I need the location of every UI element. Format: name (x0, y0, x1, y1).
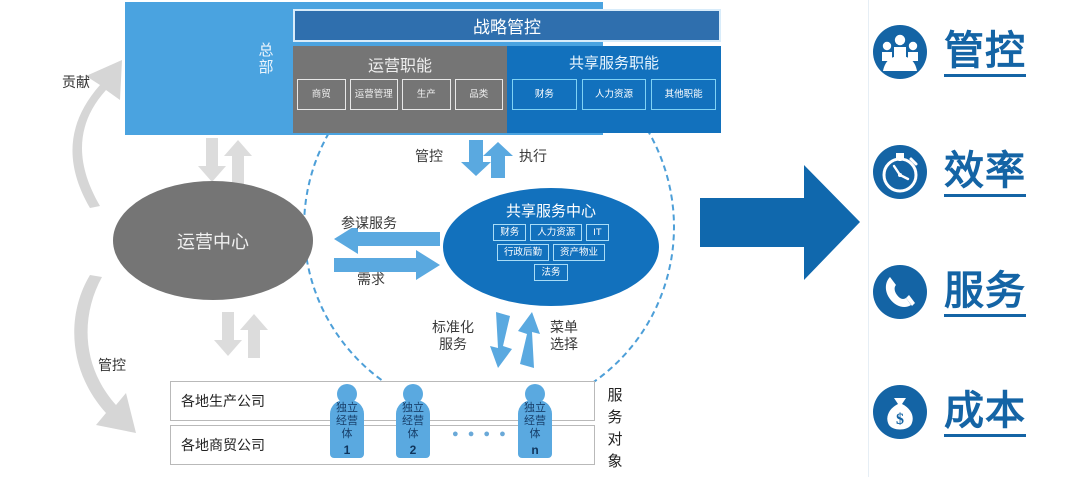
control-execute-double-arrow-icon (459, 140, 519, 178)
benefit-item-service[interactable]: 服务 (872, 256, 1080, 328)
service-object-label: 服 务 对 象 (604, 385, 626, 473)
headquarters-panel: 总部 战略管控 运营职能 商贸 运营管理 生产 品类 共享服务职能 财务 人力资… (125, 2, 603, 135)
menu-choice-line1: 菜单 (550, 319, 578, 335)
entity-label: 独立 经营 体 (330, 402, 364, 441)
contribution-curved-arrow-icon (60, 28, 180, 208)
standard-service-line2: 服务 (439, 336, 467, 352)
entity-line1: 独立 (524, 402, 546, 414)
ssc-chip: 财务 (493, 224, 526, 241)
ssc-chip: 法务 (534, 264, 567, 281)
company-label: 各地商贸公司 (171, 435, 265, 455)
benefit-label: 管控 (944, 28, 1026, 77)
ssc-chip: IT (586, 224, 608, 241)
entity-number: n (518, 443, 552, 457)
entity-line1: 独立 (402, 402, 424, 414)
ssc-row-2: 行政后勤 资产物业 (443, 244, 659, 261)
standard-menu-double-arrow-icon (482, 312, 544, 368)
company-label: 各地生产公司 (171, 391, 265, 411)
entity-line3: 体 (530, 428, 541, 440)
service-object-char: 服 (604, 385, 626, 407)
operation-functions-chips: 商贸 运营管理 生产 品类 (297, 79, 503, 110)
ops-chip: 品类 (455, 79, 504, 110)
headquarters-label-text: 总部 (253, 42, 279, 76)
benefit-item-control[interactable]: 管控 (872, 16, 1080, 88)
ops-chip: 运营管理 (350, 79, 399, 110)
entity-line2: 经营 (336, 415, 358, 427)
shared-chip: 人力资源 (582, 79, 647, 110)
execute-label: 执行 (519, 146, 547, 166)
menu-choice-label: 菜单 选择 (541, 319, 587, 353)
advisory-demand-double-arrow-icon (334, 228, 440, 280)
shared-service-center-ellipse: 共享服务中心 财务 人力资源 IT 行政后勤 资产物业 法务 (443, 188, 659, 306)
entity-line2: 经营 (402, 415, 424, 427)
entity-number: 1 (330, 443, 364, 457)
entity-body: 独立 经营 体 n (518, 400, 552, 458)
diagram-canvas: 总部 战略管控 运营职能 商贸 运营管理 生产 品类 共享服务职能 财务 人力资… (0, 0, 1080, 477)
operation-center-label: 运营中心 (177, 228, 249, 254)
ssc-chip: 人力资源 (530, 224, 582, 241)
benefit-item-efficiency[interactable]: 效率 (872, 136, 1080, 208)
ops-chip: 商贸 (297, 79, 346, 110)
entity-body: 独立 经营 体 1 (330, 400, 364, 458)
entity-line3: 体 (342, 428, 353, 440)
entity-line1: 独立 (336, 402, 358, 414)
benefit-label: 效率 (944, 148, 1026, 197)
money-bag-icon: $ (872, 384, 928, 440)
control-label: 管控 (415, 146, 443, 166)
operation-functions-block: 运营职能 商贸 运营管理 生产 品类 (293, 46, 507, 133)
shared-service-center-title: 共享服务中心 (443, 200, 659, 221)
ops-chip: 生产 (402, 79, 451, 110)
phone-icon (872, 264, 928, 320)
service-object-char: 务 (604, 407, 626, 429)
entities-ellipsis: ● ● ● ● (452, 428, 509, 440)
service-object-char: 象 (604, 451, 626, 473)
benefit-item-cost[interactable]: $ 成本 (872, 376, 1080, 448)
svg-text:$: $ (896, 411, 904, 428)
shared-service-functions-block: 共享服务职能 财务 人力资源 其他职能 (507, 46, 721, 133)
entity-figure: 独立 经营 体 n (518, 384, 552, 458)
people-group-icon (872, 24, 928, 80)
ops-entities-double-arrow-icon (214, 312, 274, 358)
entity-body: 独立 经营 体 2 (396, 400, 430, 458)
standard-service-line1: 标准化 (432, 319, 474, 335)
menu-choice-line2: 选择 (550, 336, 578, 352)
operation-functions-title: 运营职能 (293, 52, 507, 76)
shared-functions-title: 共享服务职能 (507, 52, 721, 73)
benefit-label: 服务 (944, 268, 1026, 317)
result-arrow-icon (700, 165, 860, 280)
standard-service-label: 标准化 服务 (430, 319, 476, 353)
shared-chip: 其他职能 (651, 79, 716, 110)
stopwatch-icon (872, 144, 928, 200)
ssc-chip: 资产物业 (553, 244, 605, 261)
entity-figure: 独立 经营 体 2 (396, 384, 430, 458)
entity-line3: 体 (408, 428, 419, 440)
ssc-row-3: 法务 (443, 264, 659, 281)
service-object-char: 对 (604, 429, 626, 451)
benefits-panel: 管控 效率 服务 (872, 0, 1080, 477)
strategy-control-bar: 战略管控 (293, 9, 721, 42)
entity-label: 独立 经营 体 (396, 402, 430, 441)
operation-center-ellipse: 运营中心 (113, 181, 313, 300)
benefit-label: 成本 (944, 388, 1026, 437)
ssc-chip: 行政后勤 (497, 244, 549, 261)
shared-functions-chips: 财务 人力资源 其他职能 (512, 79, 716, 110)
entity-line2: 经营 (524, 415, 546, 427)
control-left-label: 管控 (98, 355, 126, 375)
entity-figure: 独立 经营 体 1 (330, 384, 364, 458)
strategy-control-label: 战略管控 (473, 13, 541, 38)
entity-number: 2 (396, 443, 430, 457)
advisory-service-label: 参谋服务 (341, 213, 397, 233)
panel-divider (868, 0, 869, 477)
headquarters-label: 总部 (253, 42, 279, 76)
hq-ops-double-arrow-icon (198, 138, 258, 184)
shared-chip: 财务 (512, 79, 577, 110)
demand-label: 需求 (357, 269, 385, 289)
contribution-label: 贡献 (62, 72, 90, 92)
ssc-row-1: 财务 人力资源 IT (443, 224, 659, 241)
entity-label: 独立 经营 体 (518, 402, 552, 441)
